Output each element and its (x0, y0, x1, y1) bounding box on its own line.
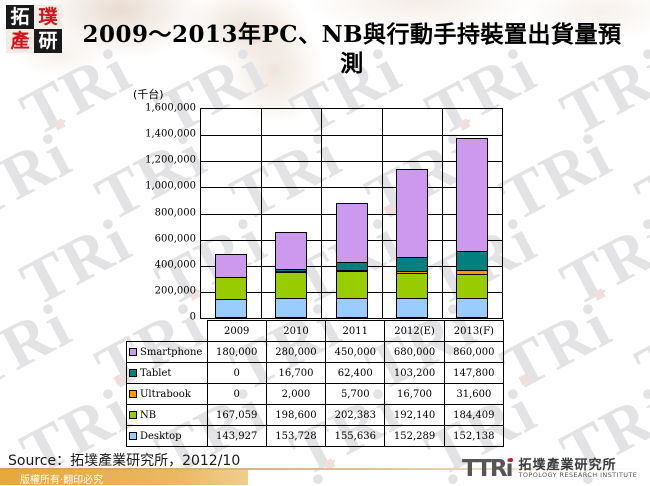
legend-row-desktop: Desktop (127, 426, 208, 447)
chart-segment-desktop (215, 299, 247, 318)
watermark-dot (53, 118, 65, 130)
table-column-header: 2009 (207, 321, 266, 342)
tri-logo-words: 拓墣產業研究所 TOPOLOGY RESEARCH INSTITUTE (519, 459, 638, 479)
watermark-text: TRi (624, 288, 650, 406)
y-axis-tick: 1,400,000 (130, 129, 196, 140)
chart-segment-tablet (456, 251, 488, 270)
legend-label: NB (140, 410, 156, 421)
table-cell: 202,383 (326, 405, 385, 426)
tri-logo-mark-text: TTRi (462, 456, 512, 482)
chart-segment-nb (396, 273, 428, 298)
table-cell: 62,400 (326, 363, 385, 384)
watermark-dot (113, 373, 125, 385)
chart-bar-slot (442, 109, 502, 318)
table-cell: 2,000 (266, 384, 325, 405)
legend-label: Ultrabook (140, 389, 191, 400)
y-axis-tick: 600,000 (130, 233, 196, 244)
tri-logo-red-dot (509, 458, 513, 462)
table-cell: 680,000 (385, 342, 444, 363)
chart-segment-nb (336, 271, 368, 297)
table-cell: 5,700 (326, 384, 385, 405)
chart-segment-tablet (336, 262, 368, 270)
legend-label: Desktop (140, 431, 182, 442)
copyright-text: 版權所有‧翻印必究 (0, 470, 248, 486)
chart-segment-nb (275, 272, 307, 298)
table-cell: 155,636 (326, 426, 385, 447)
table-cell: 167,059 (207, 405, 266, 426)
chart-segment-smartphone (275, 232, 307, 269)
legend-label: Tablet (140, 368, 171, 379)
table-cell: 153,728 (266, 426, 325, 447)
legend-label: Smartphone (140, 347, 202, 358)
watermark-text: TRi (0, 118, 83, 236)
y-axis-tick: 200,000 (130, 285, 196, 296)
tri-logo-chinese: 拓墣產業研究所 (519, 459, 638, 473)
tri-logo-mark: TTRi (462, 458, 512, 481)
logo-char-3: 產 (6, 29, 34, 53)
table-row: Ultrabook02,0005,70016,70031,600 (127, 384, 504, 405)
tri-corner-logo: 拓 璞 產 研 (6, 5, 62, 53)
watermark-text: TRi (489, 118, 623, 236)
chart-bar[interactable] (456, 138, 488, 318)
watermark-dot (593, 288, 605, 300)
table-cell: 16,700 (266, 363, 325, 384)
table-cell: 0 (207, 384, 266, 405)
table-header-row: 2009201020112012(E)2013(F) (127, 321, 504, 342)
legend-swatch-icon (129, 348, 137, 356)
chart-bar[interactable] (336, 203, 368, 318)
chart-bar[interactable] (275, 232, 307, 318)
table-corner-cell (127, 321, 208, 342)
logo-char-4: 研 (34, 29, 62, 53)
legend-swatch-icon (129, 369, 137, 377)
source-note: Source：拓墣產業研究所，2012/10 (8, 450, 240, 470)
legend-swatch-icon (129, 432, 137, 440)
chart-segment-smartphone (215, 254, 247, 278)
page-title: 2009～2013年PC、NB與行動手持裝置出貨量預測 (72, 20, 632, 78)
table-cell: 180,000 (207, 342, 266, 363)
chart-bars (201, 109, 502, 318)
table-cell: 184,409 (444, 405, 503, 426)
table-cell: 450,000 (326, 342, 385, 363)
table-cell: 860,000 (444, 342, 503, 363)
y-axis-tick: 800,000 (130, 207, 196, 218)
watermark-text: TRi (0, 288, 83, 406)
legend-row-smartphone: Smartphone (127, 342, 208, 363)
chart-segment-nb (215, 277, 247, 299)
table-column-header: 2013(F) (444, 321, 503, 342)
table-cell: 0 (207, 363, 266, 384)
y-axis-tick: 1,600,000 (130, 103, 196, 114)
chart-segment-tablet (396, 257, 428, 270)
legend-row-nb: NB (127, 405, 208, 426)
watermark-text: TRi (549, 203, 650, 321)
chart-bar[interactable] (215, 254, 247, 318)
chart-bar-slot (261, 109, 321, 318)
chart-bar[interactable] (396, 169, 428, 318)
table-cell: 152,138 (444, 426, 503, 447)
chart-bar-slot (201, 109, 261, 318)
chart-segment-desktop (456, 298, 488, 318)
table-cell: 198,600 (266, 405, 325, 426)
table-cell: 280,000 (266, 342, 325, 363)
chart-segment-smartphone (396, 169, 428, 258)
table-row: Smartphone180,000280,000450,000680,00086… (127, 342, 504, 363)
chart-segment-desktop (336, 298, 368, 318)
chart-segment-desktop (396, 298, 428, 318)
table-column-header: 2012(E) (385, 321, 444, 342)
chart-segment-nb (456, 274, 488, 298)
table-cell: 152,289 (385, 426, 444, 447)
table-cell: 192,140 (385, 405, 444, 426)
chart-bar-slot (382, 109, 442, 318)
watermark-text: TRi (9, 203, 143, 321)
tri-logo-english: TOPOLOGY RESEARCH INSTITUTE (519, 472, 638, 479)
chart-segment-desktop (275, 298, 307, 318)
table-row: Tablet016,70062,400103,200147,800 (127, 363, 504, 384)
watermark-text: TRi (0, 203, 8, 321)
logo-char-2: 璞 (34, 5, 62, 29)
table-cell: 143,927 (207, 426, 266, 447)
chart-bar-slot (321, 109, 381, 318)
table-cell: 103,200 (385, 363, 444, 384)
table-cell: 147,800 (444, 363, 503, 384)
table-cell: 31,600 (444, 384, 503, 405)
legend-swatch-icon (129, 390, 137, 398)
table-row: NB167,059198,600202,383192,140184,409 (127, 405, 504, 426)
legend-row-ultrabook: Ultrabook (127, 384, 208, 405)
tri-institute-logo: TTRi 拓墣產業研究所 TOPOLOGY RESEARCH INSTITUTE (462, 456, 644, 482)
y-axis-tick-labels: 0200,000400,000600,000800,0001,000,0001,… (130, 100, 196, 328)
watermark-text: TRi (489, 288, 623, 406)
logo-char-1: 拓 (6, 5, 34, 29)
chart-segment-smartphone (336, 203, 368, 262)
table-column-header: 2010 (266, 321, 325, 342)
y-axis-tick: 400,000 (130, 259, 196, 270)
table-row: Desktop143,927153,728155,636152,289152,1… (127, 426, 504, 447)
legend-swatch-icon (129, 411, 137, 419)
data-table: 2009201020112012(E)2013(F) Smartphone180… (126, 320, 504, 447)
watermark-dot (518, 373, 530, 385)
watermark-text: TRi (624, 118, 650, 236)
chart-segment-smartphone (456, 138, 488, 250)
copyright-bar: 版權所有‧翻印必究 (0, 470, 248, 485)
table-column-header: 2011 (326, 321, 385, 342)
legend-row-tablet: Tablet (127, 363, 208, 384)
table-body: Smartphone180,000280,000450,000680,00086… (127, 342, 504, 447)
y-axis-tick: 1,200,000 (130, 155, 196, 166)
y-axis-tick: 1,000,000 (130, 181, 196, 192)
table-cell: 16,700 (385, 384, 444, 405)
